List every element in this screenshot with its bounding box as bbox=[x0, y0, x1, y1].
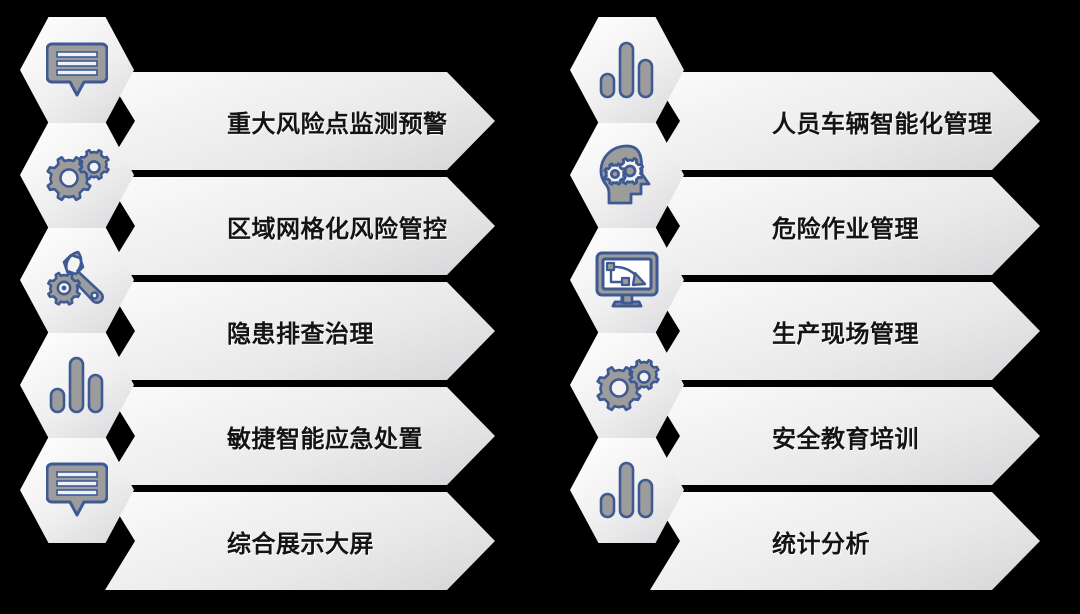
process-banner[interactable]: 危险作业管理 bbox=[650, 177, 1040, 275]
process-banner[interactable]: 生产现场管理 bbox=[650, 282, 1040, 380]
gears-icon bbox=[594, 356, 660, 414]
process-banner[interactable]: 重大风险点监测预警 bbox=[105, 72, 495, 170]
process-banner-label: 危险作业管理 bbox=[772, 209, 919, 244]
monitor-curve-icon bbox=[595, 251, 659, 309]
column-left: 重大风险点监测预警 区域网格化风险管控 隐患排查治理 敏捷智能应急处置 bbox=[0, 0, 540, 614]
bar-chart-icon bbox=[49, 356, 105, 414]
process-banner-label: 统计分析 bbox=[772, 524, 870, 559]
process-icon-badge[interactable] bbox=[20, 437, 134, 543]
message-lines-icon bbox=[46, 41, 108, 99]
process-icon-badge[interactable] bbox=[20, 332, 134, 438]
process-icon-badge[interactable] bbox=[570, 437, 684, 543]
head-gears-icon bbox=[597, 144, 657, 206]
process-banner-label: 区域网格化风险管控 bbox=[227, 209, 448, 244]
process-icon-badge[interactable] bbox=[570, 332, 684, 438]
process-icon-badge[interactable] bbox=[20, 122, 134, 228]
process-banner[interactable]: 区域网格化风险管控 bbox=[105, 177, 495, 275]
process-banner-label: 隐患排查治理 bbox=[227, 314, 374, 349]
process-banner[interactable]: 人员车辆智能化管理 bbox=[650, 72, 1040, 170]
process-icon-badge[interactable] bbox=[20, 17, 134, 123]
process-banner-label: 人员车辆智能化管理 bbox=[772, 104, 993, 139]
process-banner[interactable]: 敏捷智能应急处置 bbox=[105, 387, 495, 485]
process-banner-label: 敏捷智能应急处置 bbox=[227, 419, 423, 454]
slide-canvas: 重大风险点监测预警 区域网格化风险管控 隐患排查治理 敏捷智能应急处置 bbox=[0, 0, 1080, 614]
process-banner[interactable]: 安全教育培训 bbox=[650, 387, 1040, 485]
process-icon-badge[interactable] bbox=[570, 227, 684, 333]
bar-chart-icon bbox=[599, 41, 655, 99]
column-right: 人员车辆智能化管理 危险作业管理 生产现场管理 bbox=[540, 0, 1080, 614]
process-banner-label: 安全教育培训 bbox=[772, 419, 919, 454]
process-icon-badge[interactable] bbox=[20, 227, 134, 333]
process-icon-badge[interactable] bbox=[570, 17, 684, 123]
process-banner-label: 综合展示大屏 bbox=[227, 524, 374, 559]
process-banner[interactable]: 统计分析 bbox=[650, 492, 1040, 590]
process-banner-label: 重大风险点监测预警 bbox=[227, 104, 448, 139]
process-banner-label: 生产现场管理 bbox=[772, 314, 919, 349]
process-banner[interactable]: 综合展示大屏 bbox=[105, 492, 495, 590]
gears-icon bbox=[44, 146, 110, 204]
process-icon-badge[interactable] bbox=[570, 122, 684, 228]
bar-chart-icon bbox=[599, 461, 655, 519]
message-lines-icon bbox=[46, 461, 108, 519]
wrench-gear-icon bbox=[46, 249, 108, 311]
process-banner[interactable]: 隐患排查治理 bbox=[105, 282, 495, 380]
